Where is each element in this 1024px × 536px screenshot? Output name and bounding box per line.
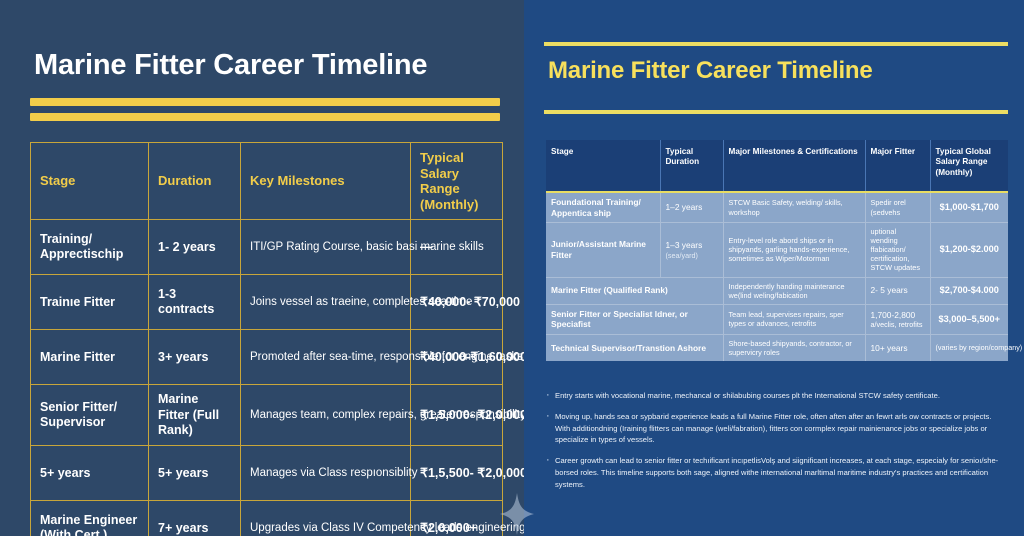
left-col-header-duration: Duration [149, 143, 241, 220]
right-cell-salary: $1,200-$2.000 [930, 223, 1008, 278]
left-cell-milestones: Manages via Class respıonsiblity [241, 446, 411, 501]
right-cell-stage: Senior Fitter or Specialist ldner, or Sp… [546, 304, 723, 334]
list-item: Entry starts with vocational marine, mec… [546, 390, 1008, 402]
right-cell-salary: $2,700-$4.000 [930, 277, 1008, 304]
right-cell-fitter: 10+ years [865, 334, 930, 361]
left-title-underline-group [30, 98, 500, 121]
right-cell-milestones: Team lead, supervises repairs, sper type… [723, 304, 865, 334]
table-row: Technical Supervisor/Transtion Ashore Sh… [546, 334, 1008, 361]
right-cell-stage: Technical Supervisor/Transtion Ashore [546, 334, 723, 361]
left-col-header-salary: Typical Salary Range (Monthly) [411, 143, 503, 220]
left-col-header-stage: Stage [31, 143, 149, 220]
left-cell-duration: 5+ years [149, 446, 241, 501]
left-cell-milestones: Joins vessel as traeine, completes sea-t… [241, 275, 411, 330]
table-row: Trainıe Fitter 1-3 contracts Joins vesse… [31, 275, 503, 330]
list-item: Career growth can lead to senior fitter … [546, 455, 1008, 490]
table-row: Foundational Training/ Appentica ship 1–… [546, 192, 1008, 223]
right-cell-duration-main: 1–3 years [666, 240, 703, 250]
right-cell-stage: Junior/Assistant Marine Fitter [546, 223, 660, 278]
right-cell-stage: Marine Fitter (Qualified Rank) [546, 277, 723, 304]
right-cell-duration: 1–2 years [660, 192, 723, 223]
left-cell-stage: Trainıe Fitter [31, 275, 149, 330]
right-cell-milestones: Shore-based shipyands, contractor, or su… [723, 334, 865, 361]
table-row: Marine Fitter 3+ years Promoted after se… [31, 330, 503, 385]
slide-canvas: Marine Fitter Career Timeline Stage Dura… [0, 0, 1024, 536]
left-page-title: Marine Fitter Career Timeline [34, 50, 504, 80]
left-col-header-milestones: Key Milestones [241, 143, 411, 220]
left-career-table: Stage Duration Key Milestones Typical Sa… [30, 142, 503, 536]
right-cell-fitter: Spedir orel (sedvehs [865, 192, 930, 223]
left-table-header-row: Stage Duration Key Milestones Typical Sa… [31, 143, 503, 220]
right-col-header-duration: Typical Duration [660, 140, 723, 192]
list-item: Moving up, hands sea or sypbarid experie… [546, 411, 1008, 446]
right-cell-salary: (varies by region/company) [930, 334, 1008, 361]
right-page-title: Marine Fitter Career Timeline [548, 58, 1008, 84]
table-row: Marine Engineer (With Cert.) 7+ years Up… [31, 501, 503, 536]
left-panel-content: Marine Fitter Career Timeline Stage Dura… [30, 0, 502, 536]
left-cell-salary: ₹1,5,000- ₹2,0,000 [411, 385, 503, 446]
right-title-rule-bottom [544, 110, 1008, 114]
left-cell-duration: 3+ years [149, 330, 241, 385]
left-cell-stage: Marine Fitter [31, 330, 149, 385]
table-row: Junior/Assistant Marine Fitter 1–3 years… [546, 223, 1008, 278]
right-table-header-row: Stage Typical Duration Major Milestones … [546, 140, 1008, 192]
table-row: Senior Fitter/ Supervisor Marine Fitter … [31, 385, 503, 446]
right-cell-fitter: 2- 5 years [865, 277, 930, 304]
left-title-underline-1 [30, 98, 500, 106]
left-cell-duration: 7+ years [149, 501, 241, 536]
left-cell-stage: Training/ Apprectischip [31, 220, 149, 275]
left-cell-stage: Senior Fitter/ Supervisor [31, 385, 149, 446]
right-cell-salary: $1,000-$1,700 [930, 192, 1008, 223]
right-cell-milestones: Entry-level role abord ships or in shipy… [723, 223, 865, 278]
left-cell-duration: Marine Fitter (Full Rank) [149, 385, 241, 446]
right-cell-duration-sub: (sea/yard) [666, 251, 718, 260]
right-career-table: Stage Typical Duration Major Milestones … [546, 140, 1008, 361]
right-cell-milestones: Independently handing mainterance we(lin… [723, 277, 865, 304]
right-title-rule-top [544, 42, 1008, 46]
left-cell-milestones: Manages team, complex repairs, greater r… [241, 385, 411, 446]
left-cell-salary: ₹40,000-₹1,60,000 [411, 330, 503, 385]
right-notes-list: Entry starts with vocational marine, mec… [546, 390, 1008, 499]
right-cell-duration: 1–3 years (sea/yard) [660, 223, 723, 278]
right-cell-fitter: uptional wending ffabication/ certificat… [865, 223, 930, 278]
right-col-header-fitter: Major Fitter [865, 140, 930, 192]
table-row: Senior Fitter or Specialist ldner, or Sp… [546, 304, 1008, 334]
right-cell-salary: $3,000–5,500+ [930, 304, 1008, 334]
left-cell-salary: ₹1,5,500- ₹2,0,000 [411, 446, 503, 501]
left-cell-stage: Marine Engineer (With Cert.) [31, 501, 149, 536]
right-col-header-salary: Typical Global Salary Range (Monthly) [930, 140, 1008, 192]
right-panel-content: Marine Fitter Career Timeline Stage Typi… [544, 0, 1008, 536]
table-row: Marine Fitter (Qualified Rank) Independe… [546, 277, 1008, 304]
table-row: Training/ Apprectischip 1- 2 years ITI/G… [31, 220, 503, 275]
right-cell-fitter-main: 1,700-2,800 [871, 310, 916, 320]
left-cell-milestones: ITI/GP Rating Course, basic basi marine … [241, 220, 411, 275]
left-cell-milestones: Promoted after sea-time, responsible for… [241, 330, 411, 385]
left-cell-stage: 5+ years [31, 446, 149, 501]
left-cell-duration: 1-3 contracts [149, 275, 241, 330]
right-cell-fitter-sub: a/veclis, retrofits [871, 320, 925, 329]
right-cell-stage: Foundational Training/ Appentica ship [546, 192, 660, 223]
right-col-header-stage: Stage [546, 140, 660, 192]
right-cell-milestones: STCW Basic Safety, welding/ skills, work… [723, 192, 865, 223]
left-cell-salary: ₹40,000- ₹70,000 [411, 275, 503, 330]
left-title-underline-2 [30, 113, 500, 121]
left-cell-duration: 1- 2 years [149, 220, 241, 275]
right-cell-fitter: 1,700-2,800 a/veclis, retrofits [865, 304, 930, 334]
left-cell-milestones: Upgrades via Class IV Competency leads e… [241, 501, 411, 536]
table-row: 5+ years 5+ years Manages via Class resp… [31, 446, 503, 501]
right-col-header-milestones: Major Milestones & Certifications [723, 140, 865, 192]
